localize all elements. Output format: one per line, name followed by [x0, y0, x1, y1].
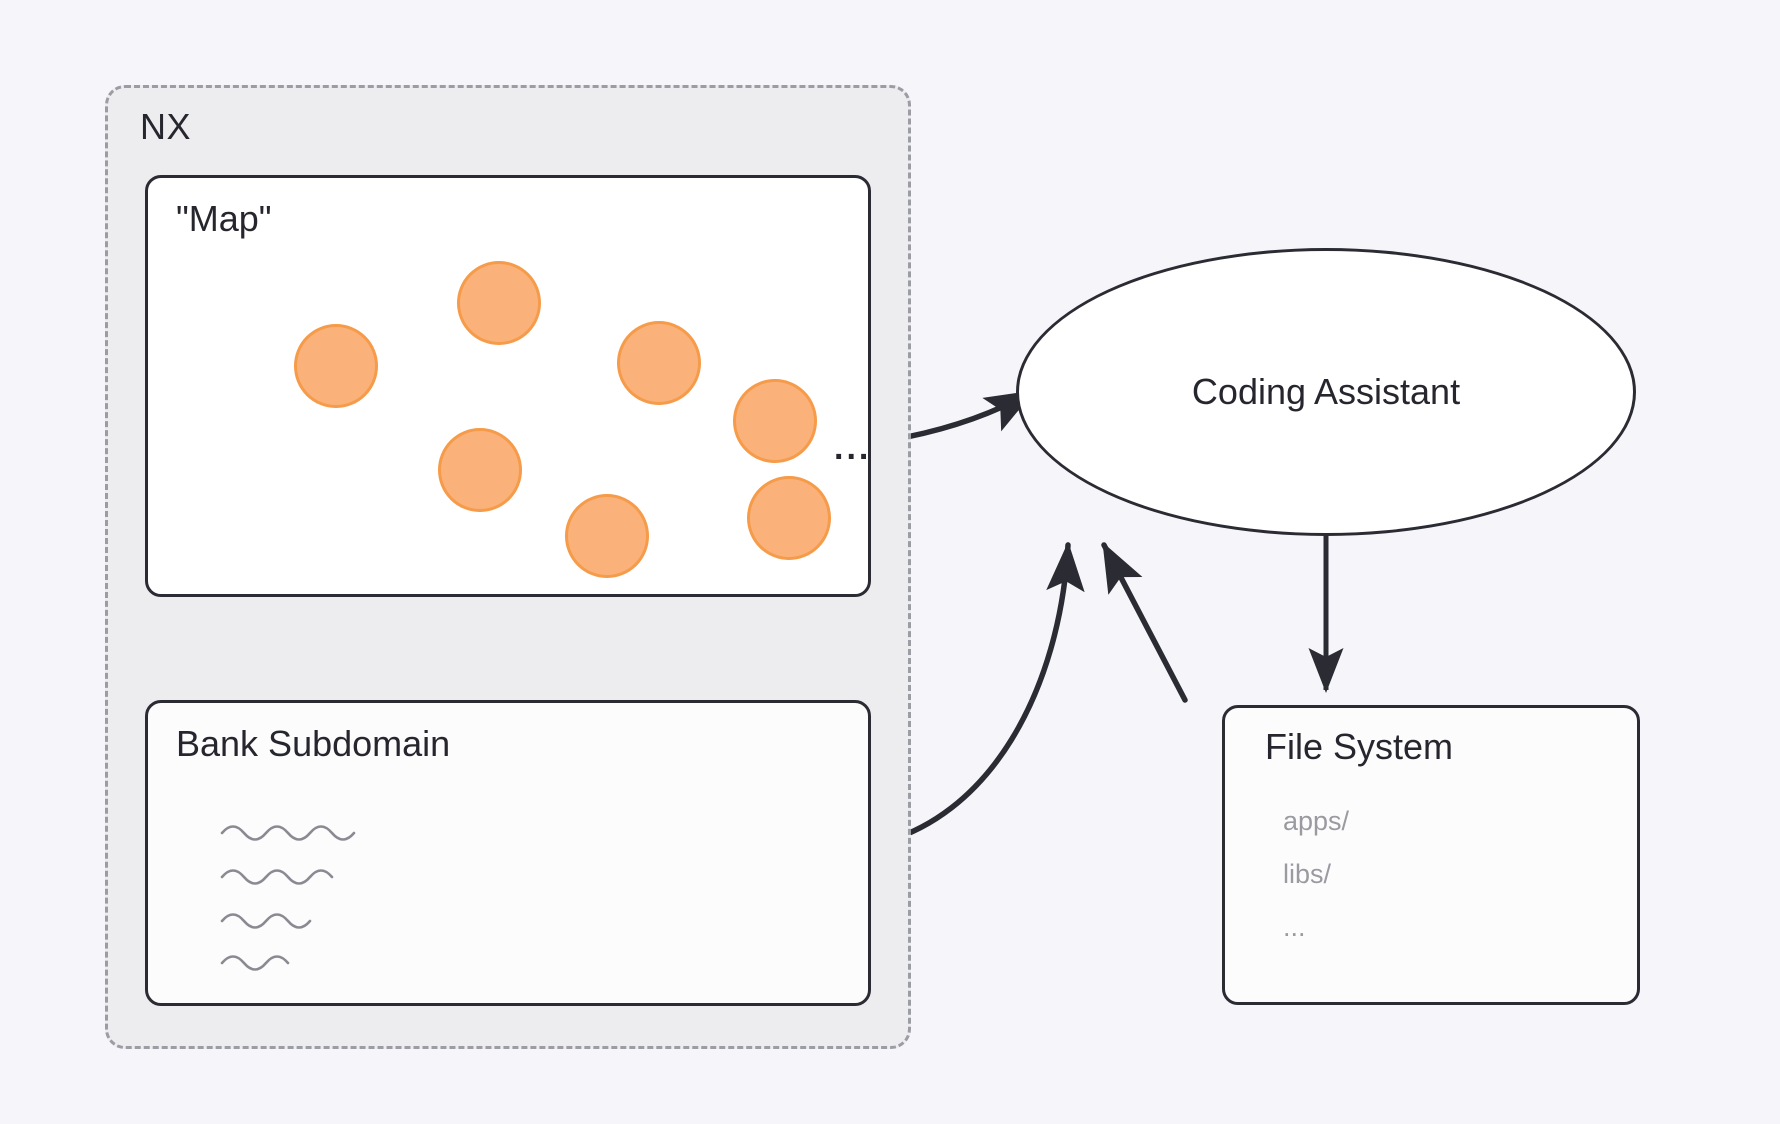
graph-ellipsis: ... — [834, 431, 871, 465]
graph-node-n4[interactable] — [733, 379, 817, 463]
graph-node-n3[interactable] — [617, 321, 701, 405]
coding-assistant-label: Coding Assistant — [1192, 371, 1460, 413]
map-card-title: "Map" — [176, 198, 272, 240]
file-system-card[interactable]: File System apps/ libs/ ... — [1222, 705, 1640, 1005]
coding-assistant-node[interactable]: Coding Assistant — [1016, 248, 1636, 536]
bank-subdomain-title: Bank Subdomain — [176, 723, 450, 765]
file-system-item-apps[interactable]: apps/ — [1283, 808, 1349, 835]
file-system-list: apps/ libs/ ... — [1283, 808, 1349, 941]
graph-node-n2[interactable] — [457, 261, 541, 345]
nx-label: NX — [140, 106, 191, 148]
diagram-canvas: NX "Map" ... Bank Subdomain Coding Assis… — [0, 0, 1780, 1124]
squiggle-line-2 — [222, 871, 332, 884]
file-system-title: File System — [1265, 726, 1453, 768]
bank-subdomain-card[interactable]: Bank Subdomain — [145, 700, 871, 1006]
graph-node-n7[interactable] — [747, 476, 831, 560]
connector-filesystem-to-assistant — [1104, 545, 1185, 700]
squiggle-line-4 — [222, 957, 288, 970]
bank-subdomain-squiggles — [220, 815, 480, 975]
squiggle-line-3 — [222, 915, 310, 928]
graph-node-n5[interactable] — [438, 428, 522, 512]
file-system-item-libs[interactable]: libs/ — [1283, 861, 1349, 888]
map-card[interactable]: "Map" ... — [145, 175, 871, 597]
squiggle-line-1 — [222, 827, 354, 840]
graph-node-n1[interactable] — [294, 324, 378, 408]
graph-node-n6[interactable] — [565, 494, 649, 578]
file-system-item-more[interactable]: ... — [1283, 914, 1349, 941]
